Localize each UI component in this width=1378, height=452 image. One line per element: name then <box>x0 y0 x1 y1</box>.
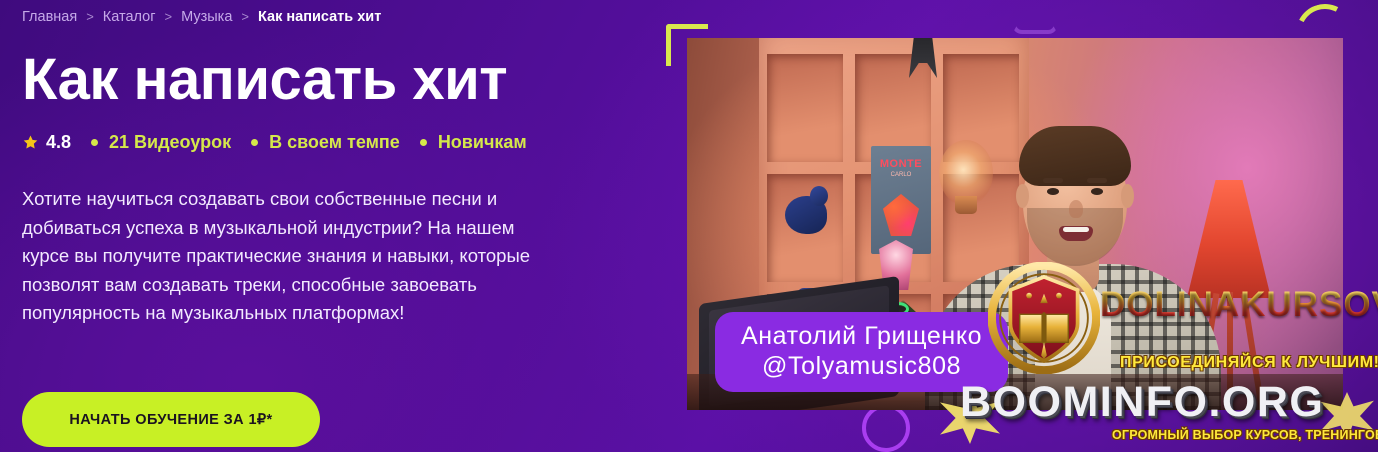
triangle-outline-icon <box>1012 0 1058 34</box>
rubber-duck-figurine <box>785 196 827 234</box>
breadcrumb-item-current: Как написать хит <box>258 7 381 27</box>
breadcrumb-separator: > <box>86 7 94 27</box>
breadcrumb-item-music[interactable]: Музыка <box>181 7 232 27</box>
rating-group: 4.8 <box>22 131 71 153</box>
monte-poster: MONTE CARLO <box>871 146 931 254</box>
eyebrow <box>1087 178 1107 183</box>
presenter-name: Анатолий Грищенко <box>741 321 982 351</box>
breadcrumb-item-home[interactable]: Главная <box>22 7 77 27</box>
start-learning-button[interactable]: НАЧАТЬ ОБУЧЕНИЕ ЗА 1₽* <box>22 392 320 447</box>
breadcrumb-item-catalog[interactable]: Каталог <box>103 7 156 27</box>
meta-bullet-icon <box>251 139 258 146</box>
shelf-cell <box>767 54 843 162</box>
breadcrumb: Главная > Каталог > Музыка > Как написат… <box>22 7 622 27</box>
hero-left-column: Главная > Каталог > Музыка > Как написат… <box>22 0 622 452</box>
course-meta-row: 4.8 21 Видеоурок В своем темпе Новичкам <box>22 131 622 153</box>
poster-artwork <box>883 194 919 236</box>
eyebrow <box>1043 178 1063 183</box>
eye <box>1091 188 1103 195</box>
nose <box>1069 200 1083 218</box>
meta-pace: В своем темпе <box>269 131 400 153</box>
poster-title: MONTE <box>871 158 931 170</box>
presenter-name-plate: Анатолий Грищенко @Tolyamusic808 <box>715 312 1008 392</box>
meta-lessons: 21 Видеоурок <box>109 131 231 153</box>
breadcrumb-separator: > <box>241 7 249 27</box>
meta-bullet-icon <box>420 139 427 146</box>
course-hero-page: Главная > Каталог > Музыка > Как написат… <box>0 0 1378 452</box>
page-title: Как написать хит <box>22 49 622 111</box>
course-description: Хотите научиться создавать свои собствен… <box>22 185 532 328</box>
rating-value: 4.8 <box>46 131 71 153</box>
circle-outline-icon <box>862 404 910 452</box>
hair <box>1019 126 1131 186</box>
meta-bullet-icon <box>91 139 98 146</box>
ear <box>1121 184 1134 208</box>
poster-subtitle: CARLO <box>871 172 931 178</box>
mouth <box>1059 226 1093 241</box>
eye <box>1047 188 1059 195</box>
breadcrumb-separator: > <box>165 7 173 27</box>
course-preview-video[interactable]: MONTE CARLO <box>687 38 1343 410</box>
meta-level: Новичкам <box>438 131 527 153</box>
star-icon <box>22 134 39 151</box>
watermark-site-tagline: ОГРОМНЫЙ ВЫБОР КУРСОВ, ТРЕНИНГОВ, КНИГ <box>1112 428 1378 442</box>
ear <box>1016 184 1029 208</box>
presenter-handle: @Tolyamusic808 <box>741 351 982 381</box>
